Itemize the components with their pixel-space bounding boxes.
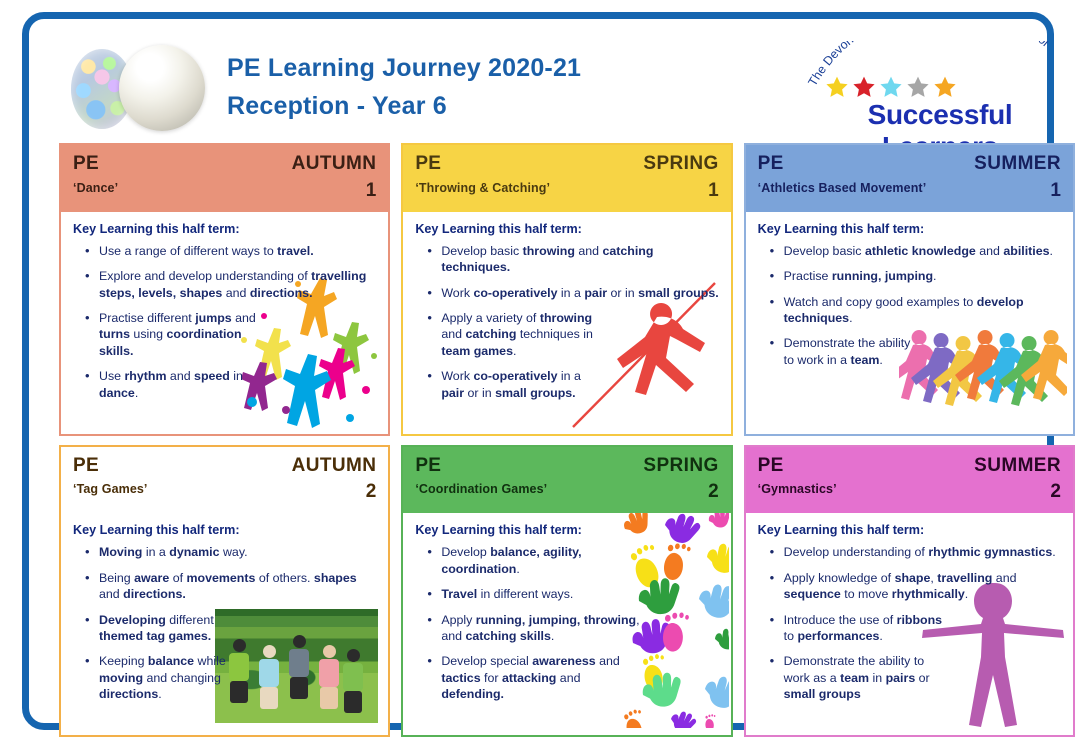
key-learning-label: Key Learning this half term: — [415, 523, 718, 537]
card-header-right: SPRING1 — [643, 154, 718, 202]
card-topic: ‘Dance’ — [73, 181, 118, 195]
card-term-number: 1 — [366, 180, 377, 202]
learning-journey-poster: PE Learning Journey 2020-21 Reception - … — [0, 0, 1076, 753]
card-header-left: PE‘Dance’ — [73, 154, 118, 195]
card-header: PE‘Tag Games’AUTUMN2 — [61, 447, 388, 514]
key-learning-item: Develop understanding of rhythmic gymnas… — [774, 544, 1061, 560]
card-term-number: 2 — [366, 481, 377, 503]
key-learning-item: Developing different themed tag games. — [89, 612, 259, 645]
card-subject: PE — [73, 456, 148, 477]
key-learning-item: Introduce the use of ribbons to performa… — [774, 612, 944, 645]
card-header-left: PE‘Tag Games’ — [73, 456, 148, 497]
card-header: PE‘Dance’AUTUMN1 — [61, 145, 388, 212]
card-topic: ‘Gymnastics’ — [758, 482, 837, 496]
card-header-left: PE‘Throwing & Catching’ — [415, 154, 550, 195]
term-card-3[interactable]: PE‘Athletics Based Movement’SUMMER1Key L… — [744, 143, 1075, 436]
star-rating — [825, 75, 957, 99]
key-learning-item: Practise different jumps and turns using… — [89, 310, 259, 359]
star-icon-3 — [879, 75, 903, 99]
key-learning-item: Apply a variety of throwing and catching… — [431, 310, 601, 359]
term-card-2[interactable]: PE‘Throwing & Catching’SPRING1Key Learni… — [401, 143, 732, 436]
card-term: AUTUMN — [292, 456, 377, 477]
card-term: SPRING — [643, 456, 718, 477]
key-learning-item: Develop basic throwing and catching tech… — [431, 243, 718, 276]
poster-header: PE Learning Journey 2020-21 Reception - … — [59, 39, 1075, 139]
card-topic: ‘Coordination Games’ — [415, 482, 547, 496]
card-header-right: SPRING2 — [643, 456, 718, 504]
key-learning-list: Moving in a dynamic way.Being aware of m… — [73, 544, 376, 702]
key-learning-item: Work co-operatively in a pair or in smal… — [431, 368, 601, 401]
card-header-left: PE‘Coordination Games’ — [415, 456, 547, 497]
card-subject: PE — [415, 154, 550, 175]
star-icon-2 — [852, 75, 876, 99]
card-header: PE‘Athletics Based Movement’SUMMER1 — [746, 145, 1073, 212]
pearl-icon — [119, 45, 205, 131]
key-learning-item: Use a range of different ways to travel. — [89, 243, 376, 259]
card-term-number: 2 — [1050, 481, 1061, 503]
key-learning-label: Key Learning this half term: — [758, 523, 1061, 537]
star-icon-4 — [906, 75, 930, 99]
term-card-4[interactable]: PE‘Tag Games’AUTUMN2Key Learning this ha… — [59, 445, 390, 738]
key-learning-item: Explore and develop understanding of tra… — [89, 268, 376, 301]
key-learning-item: Develop basic athletic knowledge and abi… — [774, 243, 1061, 259]
card-term: SUMMER — [974, 154, 1061, 175]
key-learning-label: Key Learning this half term: — [758, 222, 1061, 236]
card-body: Key Learning this half term:Develop unde… — [746, 513, 1073, 735]
key-learning-item: Apply running, jumping, throwing, and ca… — [431, 612, 646, 645]
card-body: Key Learning this half term:Moving in a … — [61, 513, 388, 735]
key-learning-item: Work co-operatively in a pair or in smal… — [431, 285, 718, 301]
card-topic: ‘Athletics Based Movement’ — [758, 181, 927, 195]
term-card-grid: PE‘Dance’AUTUMN1Key Learning this half t… — [59, 143, 1075, 737]
poster-frame: PE Learning Journey 2020-21 Reception - … — [22, 12, 1054, 730]
term-card-5[interactable]: PE‘Coordination Games’SPRING2Key Learnin… — [401, 445, 732, 738]
card-subject: PE — [73, 154, 118, 175]
card-body: Key Learning this half term:Develop bala… — [403, 513, 730, 735]
page-title: PE Learning Journey 2020-21 Reception - … — [227, 49, 581, 125]
star-icon-5 — [933, 75, 957, 99]
school-logo: The Devonshire Hill Nursery and Primary … — [805, 41, 1073, 137]
card-header-left: PE‘Athletics Based Movement’ — [758, 154, 927, 195]
card-header: PE‘Coordination Games’SPRING2 — [403, 447, 730, 514]
card-term-number: 1 — [708, 180, 719, 202]
star-icon-1 — [825, 75, 849, 99]
key-learning-item: Practise running, jumping. — [774, 268, 1061, 284]
card-header-right: AUTUMN1 — [292, 154, 377, 202]
key-learning-label: Key Learning this half term: — [415, 222, 718, 236]
card-body: Key Learning this half term:Develop basi… — [746, 212, 1073, 434]
key-learning-list: Develop balance, agility, coordination.T… — [415, 544, 718, 702]
key-learning-list: Use a range of different ways to travel.… — [73, 243, 376, 401]
card-topic: ‘Throwing & Catching’ — [415, 181, 550, 195]
key-learning-list: Develop basic throwing and catching tech… — [415, 243, 718, 401]
card-term-number: 2 — [708, 481, 719, 503]
key-learning-item: Being aware of movements of others. shap… — [89, 570, 376, 603]
card-term: AUTUMN — [292, 154, 377, 175]
key-learning-item: Develop special awareness and tactics fo… — [431, 653, 646, 702]
term-card-6[interactable]: PE‘Gymnastics’SUMMER2Key Learning this h… — [744, 445, 1075, 738]
card-subject: PE — [415, 456, 547, 477]
term-card-1[interactable]: PE‘Dance’AUTUMN1Key Learning this half t… — [59, 143, 390, 436]
card-subject: PE — [758, 456, 837, 477]
card-header-left: PE‘Gymnastics’ — [758, 456, 837, 497]
key-learning-item: Watch and copy good examples to develop … — [774, 294, 1061, 327]
card-body: Key Learning this half term:Use a range … — [61, 212, 388, 434]
key-learning-item: Use rhythm and speed in dance. — [89, 368, 259, 401]
key-learning-item: Keeping balance while moving and changin… — [89, 653, 259, 702]
key-learning-item: Travel in different ways. — [431, 586, 646, 602]
card-header-right: AUTUMN2 — [292, 456, 377, 504]
card-header: PE‘Throwing & Catching’SPRING1 — [403, 145, 730, 212]
key-learning-item: Apply knowledge of shape, travelling and… — [774, 570, 1061, 603]
card-term: SUMMER — [974, 456, 1061, 477]
card-term-number: 1 — [1050, 180, 1061, 202]
opal-and-pearl-logo — [67, 43, 212, 135]
key-learning-item: Demonstrate the ability to work as a tea… — [774, 653, 944, 702]
card-subject: PE — [758, 154, 927, 175]
card-body: Key Learning this half term:Develop basi… — [403, 212, 730, 434]
key-learning-label: Key Learning this half term: — [73, 222, 376, 236]
key-learning-list: Develop understanding of rhythmic gymnas… — [758, 544, 1061, 702]
card-header: PE‘Gymnastics’SUMMER2 — [746, 447, 1073, 514]
title-line-1: PE Learning Journey 2020-21 — [227, 49, 581, 87]
card-topic: ‘Tag Games’ — [73, 482, 148, 496]
key-learning-item: Demonstrate the ability to work in a tea… — [774, 335, 924, 368]
key-learning-item: Moving in a dynamic way. — [89, 544, 376, 560]
title-line-2: Reception - Year 6 — [227, 87, 581, 125]
card-header-right: SUMMER2 — [974, 456, 1061, 504]
card-term: SPRING — [643, 154, 718, 175]
key-learning-list: Develop basic athletic knowledge and abi… — [758, 243, 1061, 368]
card-header-right: SUMMER1 — [974, 154, 1061, 202]
key-learning-item: Develop balance, agility, coordination. — [431, 544, 646, 577]
key-learning-label: Key Learning this half term: — [73, 523, 376, 537]
